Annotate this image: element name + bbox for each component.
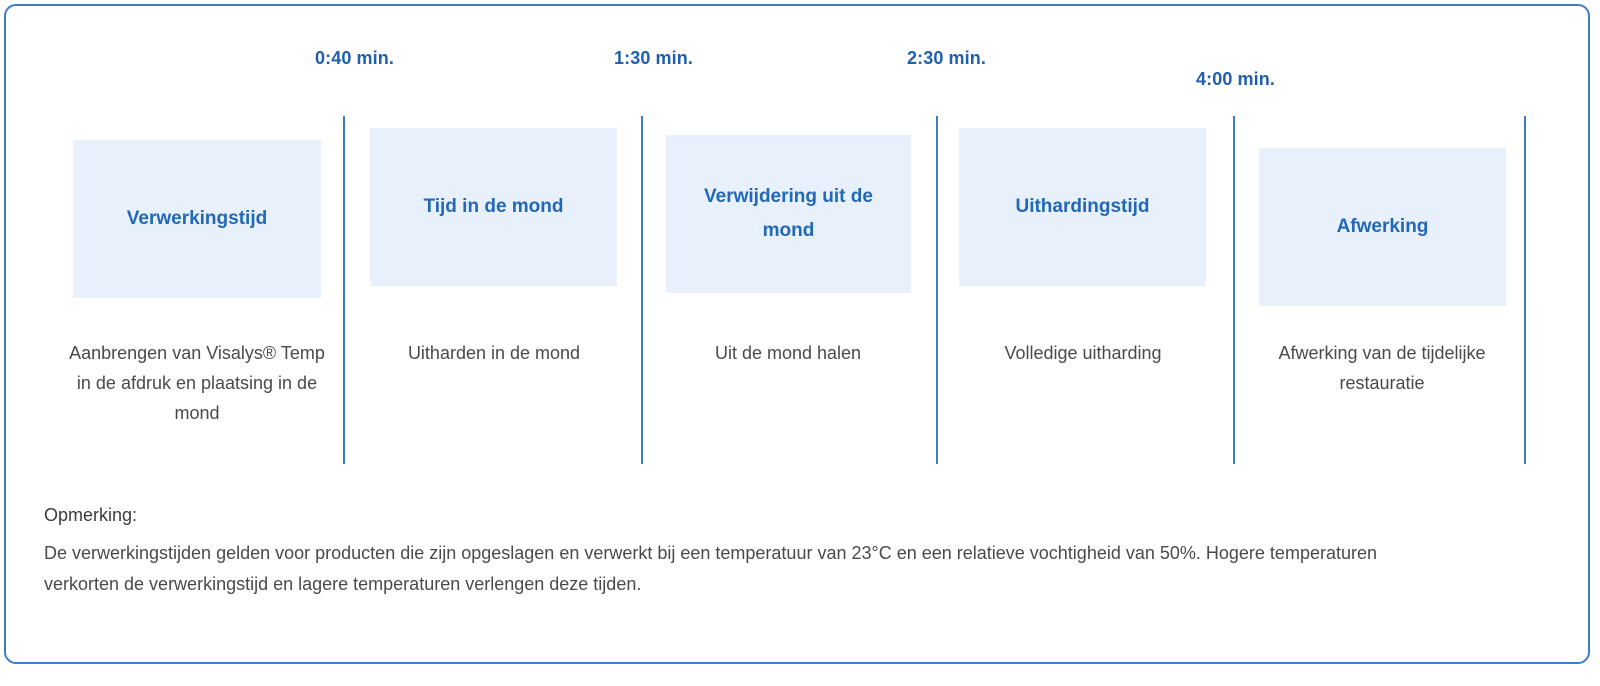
time-marker-4: 4:00 min.: [1196, 69, 1275, 90]
stage-3-title: Verwijdering uit de mond: [666, 180, 911, 248]
stage-1: Verwerkingstijd Aanbrengen van Visalys® …: [6, 116, 343, 466]
note-body: De verwerkingstijden gelden voor product…: [44, 538, 1444, 601]
stage-5: Afwerking Afwerking van de tijdelijke re…: [1235, 116, 1524, 466]
stage-divider-5: [1524, 116, 1526, 464]
stage-1-title: Verwerkingstijd: [117, 202, 277, 236]
stage-4-card: Uithardingstijd: [959, 128, 1206, 286]
stage-4: Uithardingstijd Volledige uitharding: [938, 116, 1233, 466]
note-heading: Opmerking:: [44, 502, 1514, 530]
stage-3: Verwijdering uit de mond Uit de mond hal…: [643, 116, 936, 466]
note-region: Opmerking: De verwerkingstijden gelden v…: [44, 502, 1514, 601]
stage-1-description: Aanbrengen van Visalys® Temp in de afdru…: [64, 338, 330, 429]
stage-4-title: Uithardingstijd: [1005, 190, 1159, 224]
stage-5-title: Afwerking: [1327, 210, 1439, 244]
stage-1-card: Verwerkingstijd: [73, 140, 321, 298]
stage-4-description: Volledige uitharding: [950, 338, 1216, 368]
stage-2: Tijd in de mond Uitharden in de mond: [345, 116, 641, 466]
stage-3-card: Verwijdering uit de mond: [666, 135, 911, 293]
time-marker-2: 1:30 min.: [614, 48, 693, 69]
stage-2-description: Uitharden in de mond: [360, 338, 628, 368]
stage-3-description: Uit de mond halen: [655, 338, 921, 368]
timeline-region: 0:40 min. 1:30 min. 2:30 min. 4:00 min. …: [6, 6, 1588, 476]
time-marker-1: 0:40 min.: [315, 48, 394, 69]
timeline-panel: 0:40 min. 1:30 min. 2:30 min. 4:00 min. …: [4, 4, 1590, 664]
time-marker-3: 2:30 min.: [907, 48, 986, 69]
stage-5-description: Afwerking van de tijdelijke restauratie: [1249, 338, 1515, 398]
stage-5-card: Afwerking: [1259, 148, 1506, 306]
stage-2-card: Tijd in de mond: [370, 128, 617, 286]
stage-2-title: Tijd in de mond: [413, 190, 573, 224]
